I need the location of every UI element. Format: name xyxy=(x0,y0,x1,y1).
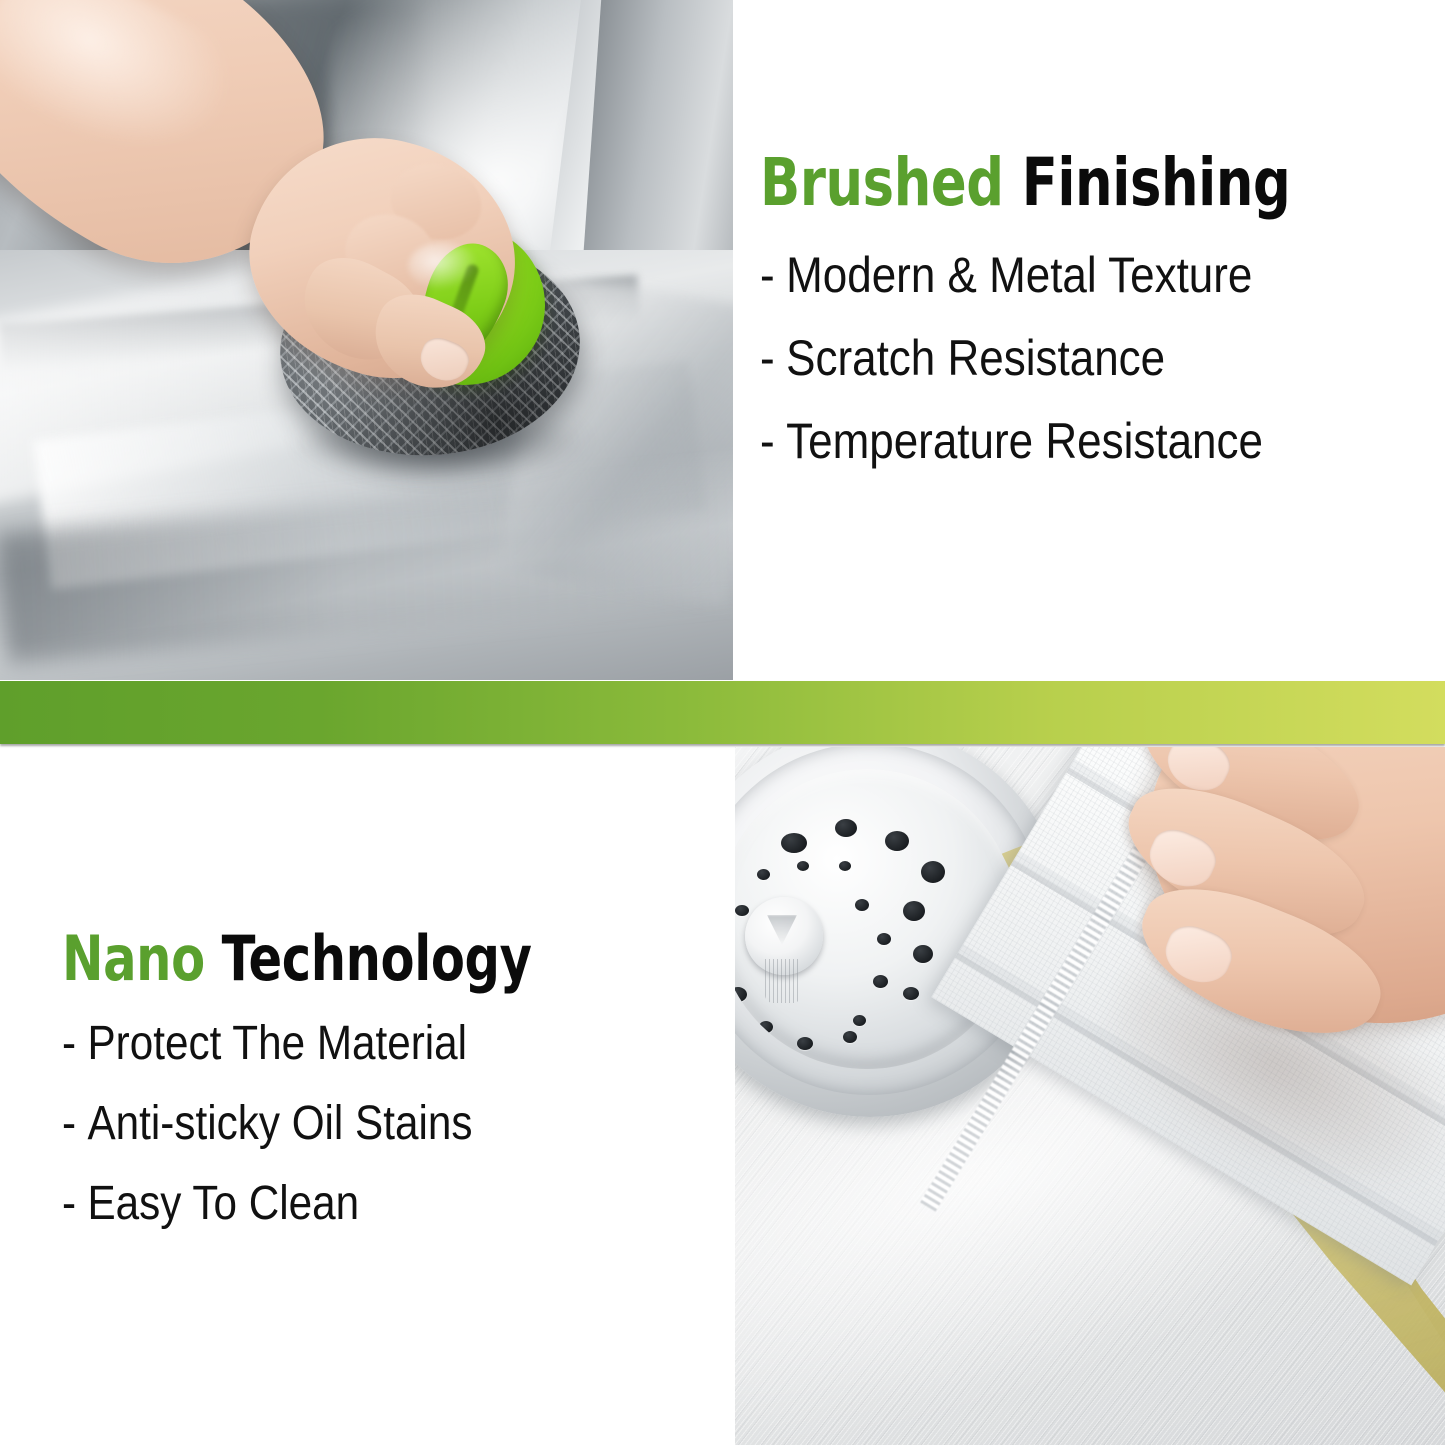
strainer-hole xyxy=(877,933,891,945)
strainer-hole xyxy=(797,861,809,871)
nano-technology-heading: Nano Technology xyxy=(62,928,590,990)
hand-wiping-oil-off-sink-photo xyxy=(735,747,1445,1445)
bullet-text: Easy To Clean xyxy=(88,1177,360,1230)
strainer-hole xyxy=(839,861,851,871)
bullet-dash: - xyxy=(760,333,775,383)
strainer-hole xyxy=(903,901,925,921)
bullet-dash: - xyxy=(62,1100,76,1148)
strainer-hole xyxy=(735,905,749,916)
list-item: -Modern & Metal Texture xyxy=(760,250,1341,300)
strainer-hole xyxy=(781,833,807,853)
strainer-hole xyxy=(797,1037,813,1050)
brushed-finishing-bullet-list: -Modern & Metal Texture -Scratch Resista… xyxy=(760,250,1420,466)
heading-rest-word: Technology xyxy=(222,922,532,995)
bullet-text: Modern & Metal Texture xyxy=(786,247,1252,303)
heading-rest-word: Finishing xyxy=(1022,144,1291,221)
strainer-hole xyxy=(903,987,919,1000)
strainer-hole xyxy=(885,831,909,851)
strainer-knob-stem xyxy=(765,959,801,1003)
green-gradient-band xyxy=(0,681,1445,744)
strainer-hole xyxy=(873,975,888,988)
strainer-hole xyxy=(759,1021,773,1033)
hand-scrubbing-stainless-sink-photo xyxy=(0,0,733,680)
nano-technology-text-block: Nano Technology -Protect The Material -A… xyxy=(62,928,722,1260)
strainer-hole xyxy=(853,1015,866,1026)
bullet-text: Protect The Material xyxy=(88,1017,468,1070)
heading-highlight-word: Brushed xyxy=(760,144,1004,221)
brushed-finishing-text-block: Brushed Finishing -Modern & Metal Textur… xyxy=(760,150,1420,499)
scrubber-handle-highlight xyxy=(408,242,478,290)
list-item: -Anti-sticky Oil Stains xyxy=(62,1100,643,1148)
brushed-finishing-heading: Brushed Finishing xyxy=(760,150,1288,216)
bullet-text: Temperature Resistance xyxy=(786,413,1263,469)
list-item: -Scratch Resistance xyxy=(760,333,1341,383)
list-item: -Temperature Resistance xyxy=(760,416,1341,466)
list-item: -Protect The Material xyxy=(62,1020,643,1068)
bullet-dash: - xyxy=(760,416,775,466)
product-infographic: Brushed Finishing -Modern & Metal Textur… xyxy=(0,0,1445,1445)
bullet-dash: - xyxy=(62,1020,76,1068)
strainer-hole xyxy=(921,861,945,883)
strainer-hole xyxy=(843,1031,857,1043)
heading-highlight-word: Nano xyxy=(62,922,205,995)
strainer-hole xyxy=(757,869,770,880)
strainer-hole xyxy=(735,987,747,1002)
nano-technology-bullet-list: -Protect The Material -Anti-sticky Oil S… xyxy=(62,1020,722,1228)
bullet-text: Anti-sticky Oil Stains xyxy=(88,1097,473,1150)
bullet-dash: - xyxy=(62,1180,76,1228)
bullet-dash: - xyxy=(760,250,775,300)
bullet-text: Scratch Resistance xyxy=(786,330,1165,386)
strainer-hole xyxy=(835,819,857,837)
strainer-hole xyxy=(913,945,933,963)
strainer-hole xyxy=(855,899,869,911)
list-item: -Easy To Clean xyxy=(62,1180,643,1228)
